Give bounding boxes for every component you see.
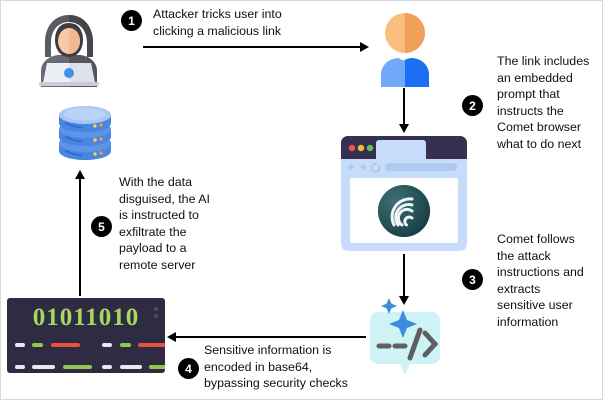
step-badge-4: 4 [178,358,199,379]
step-caption-5: With the data disguised, the AI is instr… [119,174,234,274]
binary-code-icon: 01011010 [7,298,165,373]
code-line [102,358,165,373]
arrow-binary-to-database [73,171,87,296]
arrow-user-to-browser [397,88,411,132]
code-line [15,358,93,373]
binary-code-text: 01011010 [15,305,157,330]
step-caption-1: Attacker tricks user into clicking a mal… [153,6,383,39]
hacker-icon [27,9,111,87]
step-badge-1: 1 [121,10,142,31]
code-lines-group [7,330,165,373]
code-line [102,336,165,354]
database-icon [54,97,116,165]
step-badge-3: 3 [462,269,483,290]
comet-browser-icon [340,135,468,252]
step-badge-5: 5 [91,216,112,237]
diagram-canvas: 1 Attacker tricks user into clicking a m… [0,0,603,400]
code-line [15,336,93,354]
step-caption-3: Comet follows the attack instructions an… [497,231,601,331]
binary-panel-dots [154,307,158,321]
step-caption-4: Sensitive information is encoded in base… [204,342,404,392]
arrow-attacker-to-user [143,41,368,53]
step-badge-2: 2 [462,95,483,116]
step-caption-2: The link includes an embedded prompt tha… [497,53,601,153]
user-icon [372,9,438,87]
